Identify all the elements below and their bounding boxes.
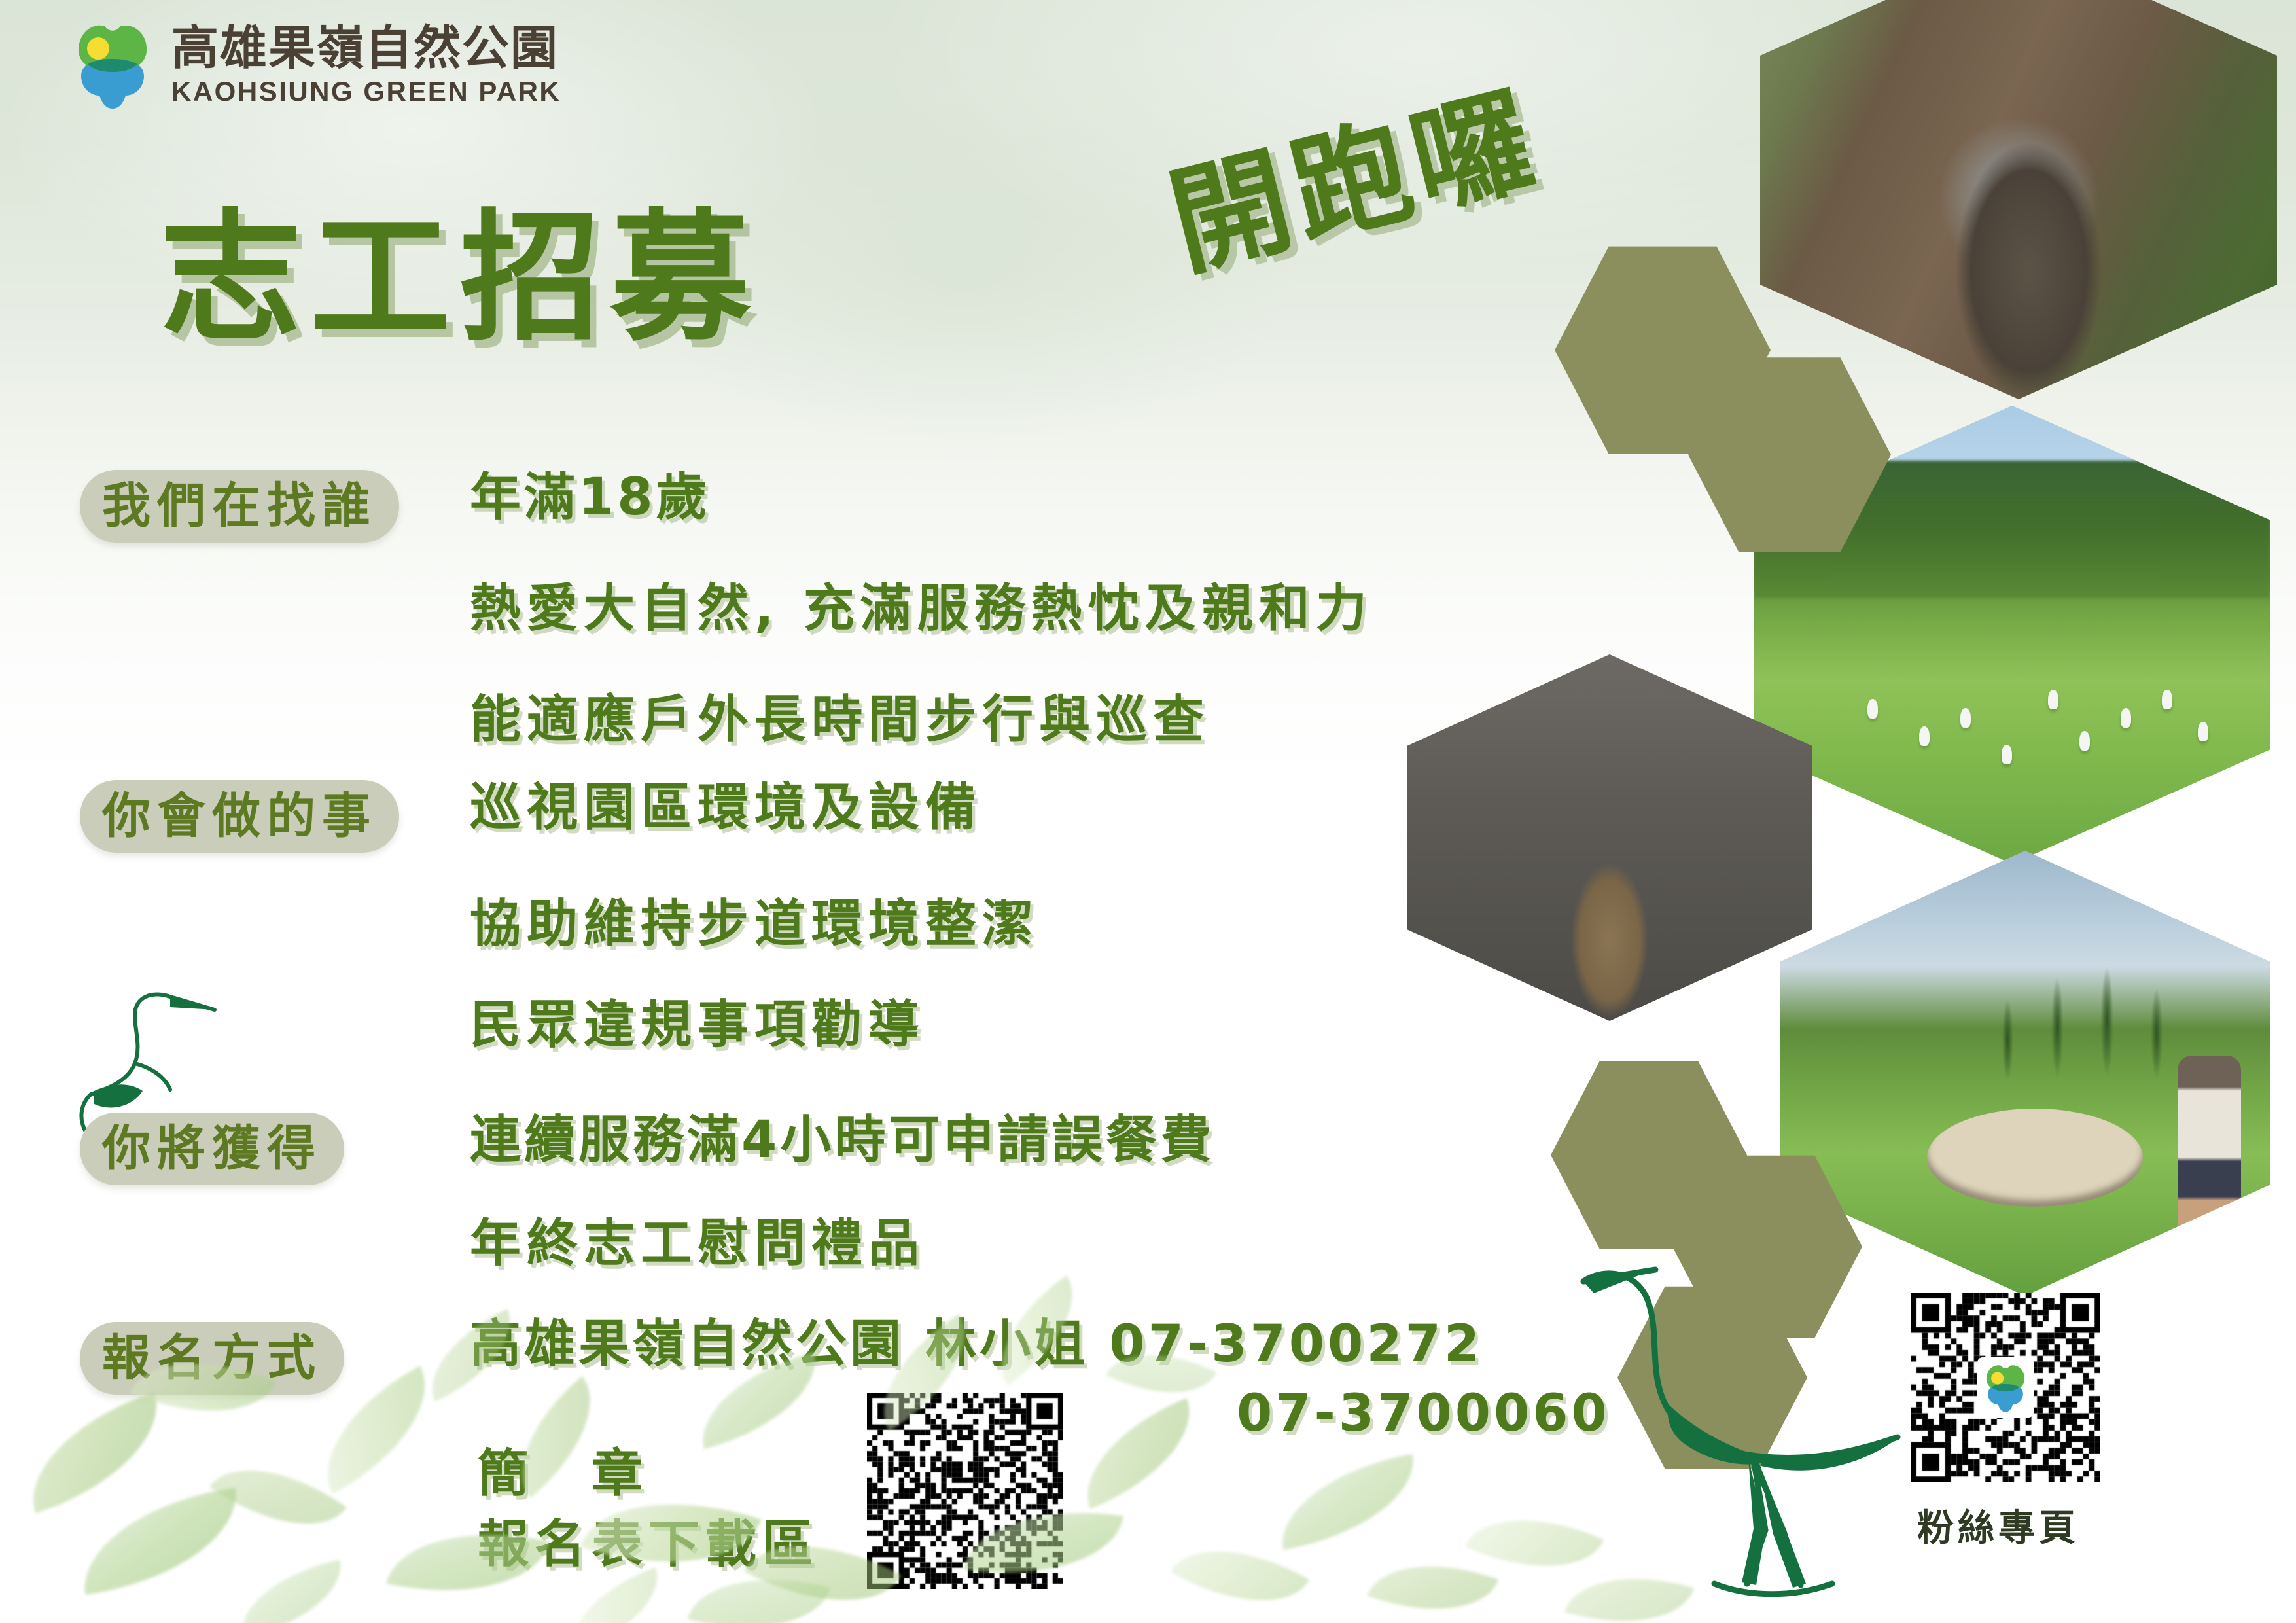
section-benefits-line-2: 年終志工慰問禮品: [470, 1216, 925, 1272]
fanpage-qr-code[interactable]: [1911, 1293, 2100, 1482]
section-who-line-3: 能適應戶外長時間步行與巡查: [470, 692, 1210, 749]
section-duties-line-2: 協助維持步道環境整潔: [470, 897, 1039, 953]
brand-name-en: KAOHSIUNG GREEN PARK: [171, 78, 561, 105]
leaf-icon: [1065, 1398, 1212, 1508]
contact-line-phone-2: 07-3700060: [1237, 1386, 1610, 1442]
fanpage-caption: 粉絲專頁: [1917, 1499, 2079, 1552]
leaf-icon: [557, 1567, 673, 1623]
section-label-duties: 你會做的事: [80, 780, 399, 853]
poster-canvas: 高雄果嶺自然公園 KAOHSIUNG GREEN PARK 志工招募 開跑囉: [0, 0, 2296, 1623]
contact-line-org-phone: 高雄果嶺自然公園 林小姐 07-3700272: [470, 1317, 1483, 1373]
photo-surface: [1780, 851, 2270, 1296]
section-who-line-1: 年滿18歲: [470, 470, 711, 526]
section-who-line-2: 熱愛大自然, 充滿服務熱忱及親和力: [470, 581, 1373, 637]
pine-trees: [1976, 949, 2202, 1100]
section-benefits-line-1: 連續服務滿4小時可申請誤餐費: [470, 1113, 1214, 1169]
leaf-icon: [231, 1560, 351, 1623]
section-duties-line-1: 巡視園區環境及設備: [470, 780, 982, 836]
visitor-figure: [2178, 1056, 2242, 1251]
page-title: 志工招募: [160, 164, 760, 367]
qr-center-logo-icon: [1977, 1357, 2034, 1418]
section-label-who: 我們在找誰: [80, 470, 399, 543]
brand-name-cn: 高雄果嶺自然公園: [171, 24, 561, 71]
section-label-benefits: 你將獲得: [80, 1113, 344, 1185]
sand-bunker: [1927, 1109, 2143, 1207]
park-leaf-pond-logo-icon: [71, 16, 154, 114]
photo-golf-course-visitors: [1780, 851, 2270, 1296]
egret-illustration-large-icon: [1557, 1243, 1924, 1623]
leaf-icon: [73, 1488, 247, 1595]
leaf-icon: [1271, 1454, 1425, 1550]
section-what-you-will-do: 你會做的事: [80, 780, 399, 853]
leaf-icon: [11, 1392, 179, 1513]
section-who-we-are-looking-for: 我們在找誰: [80, 470, 399, 543]
brand-logo: 高雄果嶺自然公園 KAOHSIUNG GREEN PARK: [71, 16, 561, 114]
section-duties-line-3: 民眾違規事項勸導: [470, 997, 925, 1054]
section-what-you-get: 你將獲得: [80, 1113, 344, 1185]
leaf-icon: [209, 1436, 347, 1558]
brand-logo-text: 高雄果嶺自然公園 KAOHSIUNG GREEN PARK: [171, 24, 561, 105]
